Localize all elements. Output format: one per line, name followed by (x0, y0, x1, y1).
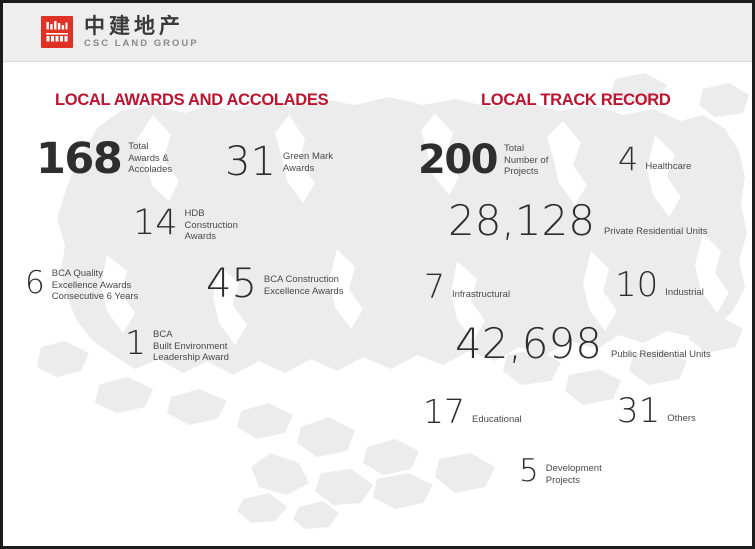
csc-logo-mark-icon (41, 16, 73, 48)
stat-value: 7 (424, 271, 445, 302)
stat-label: Total Number of Projects (504, 143, 548, 178)
stat-label: Public Residential Units (611, 349, 711, 361)
stat-value: 28,128 (448, 201, 595, 241)
stat-industrial: 10 Industrial (615, 269, 704, 301)
stat-infrastructural: 7 Infrastructural (424, 271, 510, 302)
stat-value: 200 (418, 141, 497, 179)
stat-value: 42,698 (455, 324, 602, 364)
infographic-slide: 中建地产 CSC LAND GROUP (0, 0, 755, 549)
stat-label: Total Awards & Accolades (128, 141, 172, 176)
stat-value: 1 (125, 327, 146, 358)
stat-private-residential-units: 28,128 Private Residential Units (448, 201, 707, 241)
stat-healthcare: 4 Healthcare (618, 144, 691, 174)
brand-name-english: CSC LAND GROUP (84, 39, 199, 49)
stat-value: 31 (225, 143, 276, 181)
stat-value: 10 (615, 269, 658, 301)
stat-value: 14 (133, 207, 178, 240)
stat-label: Development Projects (546, 463, 602, 486)
stat-public-residential-units: 42,698 Public Residential Units (455, 324, 711, 364)
stat-label: Healthcare (645, 161, 691, 173)
stat-development-projects: 5 Development Projects (519, 457, 602, 496)
stat-total-awards: 168 Total Awards & Accolades (36, 139, 172, 200)
content-area: LOCAL AWARDS AND ACCOLADES LOCAL TRACK R… (3, 61, 752, 549)
stat-hdb-construction-awards: 14 HDB Construction Awards (133, 207, 238, 261)
stat-label: BCA Construction Excellence Awards (264, 274, 344, 297)
stat-label: Industrial (665, 287, 704, 299)
stat-value: 5 (519, 457, 539, 486)
stat-green-mark-awards: 31 Green Mark Awards (225, 143, 333, 190)
stat-label: Infrastructural (452, 289, 510, 301)
left-column-title: LOCAL AWARDS AND ACCOLADES (55, 91, 328, 110)
stat-total-projects: 200 Total Number of Projects (418, 141, 548, 200)
stat-label: Others (667, 413, 696, 425)
stat-label: Educational (472, 414, 522, 426)
stat-bca-built-environment-leadership-award: 1 BCA Built Environment Leadership Award (125, 327, 229, 381)
stat-value: 31 (617, 395, 660, 427)
stat-value: 17 (423, 396, 465, 427)
stat-educational: 17 Educational (423, 396, 522, 427)
stat-value: 168 (36, 139, 121, 180)
brand-name-chinese: 中建地产 (84, 15, 199, 37)
stat-label: Private Residential Units (604, 226, 708, 238)
header-band: 中建地产 CSC LAND GROUP (3, 3, 752, 62)
right-column-title: LOCAL TRACK RECORD (481, 91, 671, 110)
stat-label: HDB Construction Awards (185, 208, 238, 243)
stat-value: 4 (618, 144, 638, 174)
stat-label: BCA Built Environment Leadership Award (153, 329, 229, 364)
stat-label: BCA Quality Excellence Awards Consecutiv… (52, 268, 139, 303)
brand-logo[interactable]: 中建地产 CSC LAND GROUP (41, 15, 199, 49)
stat-bca-quality-excellence-awards: 6 BCA Quality Excellence Awards Consecut… (25, 269, 138, 320)
brand-logo-text: 中建地产 CSC LAND GROUP (84, 15, 199, 49)
stat-value: 45 (206, 265, 257, 303)
stat-label: Green Mark Awards (283, 151, 333, 174)
stat-value: 6 (25, 269, 45, 298)
stat-bca-construction-excellence-awards: 45 BCA Construction Excellence Awards (206, 265, 343, 312)
stat-others: 31 Others (617, 395, 696, 427)
